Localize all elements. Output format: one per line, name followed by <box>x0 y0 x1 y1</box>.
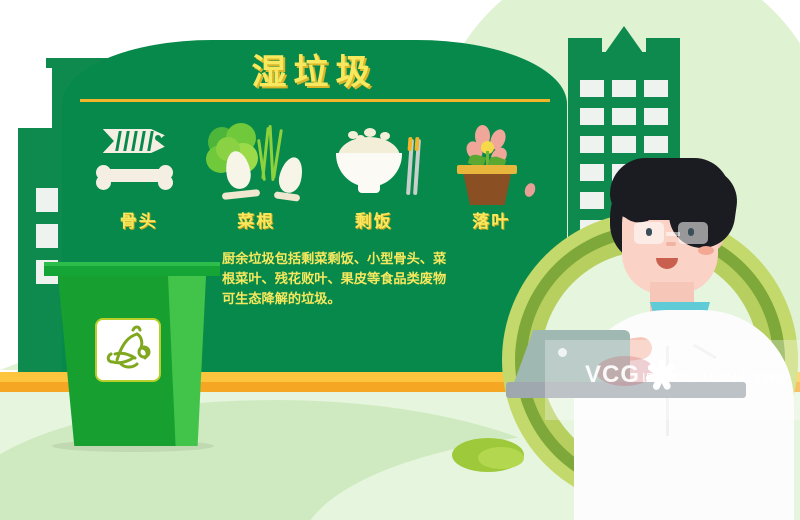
category-item-bone[interactable]: 骨头 <box>80 112 198 232</box>
eyebrow-right <box>676 210 704 215</box>
fish-bone-icon <box>87 123 191 205</box>
poster-canvas: 湿垃圾 骨头 <box>0 0 800 520</box>
category-item-leftover-rice[interactable]: 剩饭 <box>315 112 433 232</box>
category-label: 菜根 <box>237 207 275 232</box>
nose <box>666 242 676 246</box>
page-title: 湿垃圾 <box>62 44 567 95</box>
bin-lid-highlight <box>44 262 220 266</box>
cheek-blush <box>698 246 714 255</box>
category-label: 骨头 <box>120 207 158 232</box>
category-item-vegetable-root[interactable]: 菜根 <box>198 112 316 232</box>
glasses-bridge <box>666 232 680 236</box>
description-text: 厨余垃圾包括剩菜剩饭、小型骨头、菜根菜叶、残花败叶、果皮等食品类废物可生态降解的… <box>222 250 454 310</box>
title-underline <box>80 99 550 102</box>
eyebrow-left <box>634 212 660 217</box>
pupil-right <box>688 228 694 236</box>
wet-waste-bin-symbol <box>95 318 161 382</box>
pupil-left <box>646 228 652 236</box>
category-label: 剩饭 <box>355 207 393 232</box>
watermark-id: ID: VCG211224413388 <box>642 370 784 385</box>
rice-bowl-icon <box>322 123 426 205</box>
vegetable-root-icon <box>204 123 308 205</box>
man-with-laptop-illustration <box>470 150 800 520</box>
watermark-brand: VCG <box>585 361 640 389</box>
